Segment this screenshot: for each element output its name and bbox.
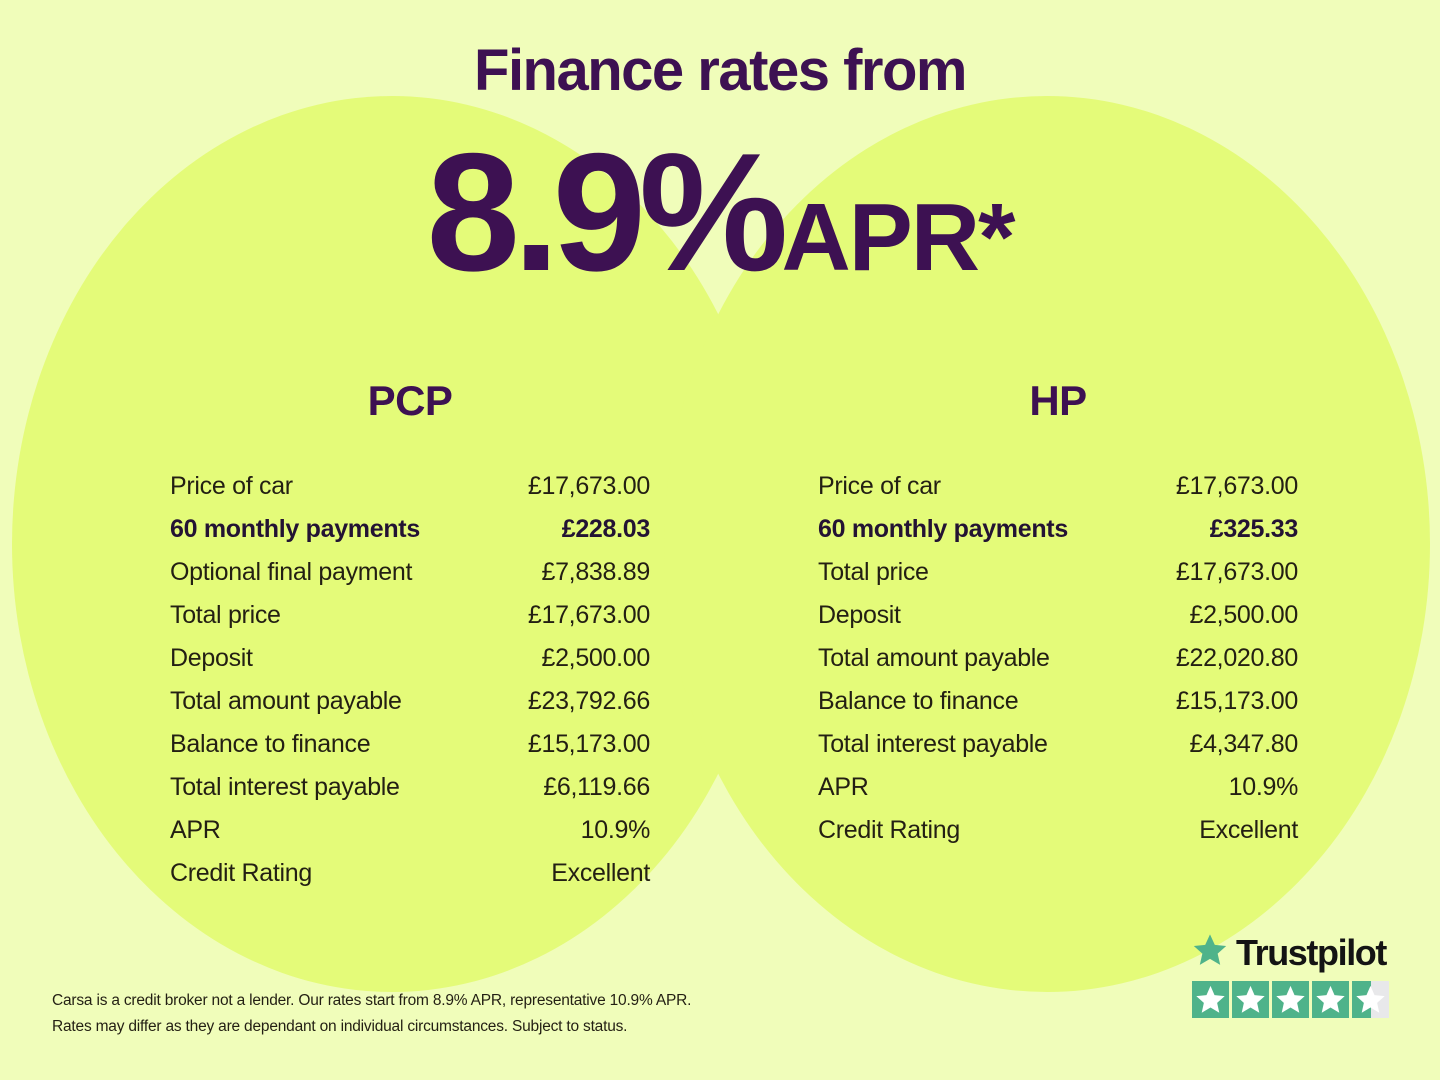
finance-row-label: Deposit [818,601,901,630]
trustpilot-star-icon [1192,932,1228,973]
finance-column-pcp: PCP Price of car£17,673.0060 monthly pay… [170,372,650,902]
trustpilot-star-rating [1192,981,1392,1018]
finance-row-value: 10.9% [581,816,650,845]
disclaimer-line-1: Carsa is a credit broker not a lender. O… [52,988,691,1014]
finance-row: Deposit£2,500.00 [818,601,1298,644]
finance-row-label: Total interest payable [170,773,400,802]
trustpilot-badge[interactable]: Trustpilot [1192,932,1392,1018]
finance-row-label: APR [170,816,221,845]
trustpilot-header: Trustpilot [1192,932,1392,973]
finance-row-label: Price of car [818,472,941,501]
finance-row-value: Excellent [1199,816,1298,845]
finance-row-label: Total amount payable [818,644,1050,673]
finance-row: 60 monthly payments£325.33 [818,515,1298,558]
trustpilot-star-icon [1312,981,1349,1018]
finance-row-value: £17,673.00 [1176,472,1298,501]
finance-row-value: Excellent [551,859,650,888]
finance-row-value: £15,173.00 [528,730,650,759]
finance-row-label: Total price [818,558,929,587]
trustpilot-star-icon [1232,981,1269,1018]
finance-row-label: Total amount payable [170,687,402,716]
finance-row: Deposit£2,500.00 [170,644,650,687]
finance-row-value: £17,673.00 [1176,558,1298,587]
finance-row-value: £23,792.66 [528,687,650,716]
trustpilot-star-icon [1352,981,1389,1018]
finance-row-label: Credit Rating [170,859,312,888]
page-title: Finance rates from [0,42,1440,100]
apr-rate-value: 8.9% [427,118,782,306]
finance-row-value: £6,119.66 [543,773,650,802]
finance-row: Price of car£17,673.00 [170,472,650,515]
finance-row: 60 monthly payments£228.03 [170,515,650,558]
apr-headline: 8.9%APR* [0,128,1440,296]
finance-row: Credit RatingExcellent [170,859,650,902]
finance-row-label: 60 monthly payments [170,515,420,544]
finance-row-value: £2,500.00 [541,644,650,673]
finance-row-label: Balance to finance [818,687,1018,716]
finance-row-label: Deposit [170,644,253,673]
finance-row: Total interest payable£6,119.66 [170,773,650,816]
finance-row-label: Total price [170,601,281,630]
finance-row-label: Balance to finance [170,730,370,759]
trustpilot-star-icon [1272,981,1309,1018]
finance-row-value: £2,500.00 [1189,601,1298,630]
finance-row: APR10.9% [170,816,650,859]
poster-content: Finance rates from 8.9%APR* PCP Price of… [0,0,1440,1080]
finance-row-value: £22,020.80 [1176,644,1298,673]
finance-rows-hp: Price of car£17,673.0060 monthly payment… [818,472,1298,859]
finance-row-label: Credit Rating [818,816,960,845]
finance-row-value: £15,173.00 [1176,687,1298,716]
finance-row-label: Price of car [170,472,293,501]
poster-canvas: Finance rates from 8.9%APR* PCP Price of… [0,0,1440,1080]
finance-column-hp: HP Price of car£17,673.0060 monthly paym… [818,372,1298,859]
finance-row-value: £325.33 [1210,515,1298,544]
finance-row: Optional final payment£7,838.89 [170,558,650,601]
finance-row: Balance to finance£15,173.00 [818,687,1298,730]
finance-row-label: 60 monthly payments [818,515,1068,544]
finance-row: Total price£17,673.00 [170,601,650,644]
disclaimer: Carsa is a credit broker not a lender. O… [52,988,691,1040]
finance-row: Price of car£17,673.00 [818,472,1298,515]
finance-row-value: £7,838.89 [541,558,650,587]
finance-row-label: Optional final payment [170,558,412,587]
apr-rate-suffix: APR* [781,184,1013,291]
finance-row: APR10.9% [818,773,1298,816]
finance-row: Balance to finance£15,173.00 [170,730,650,773]
finance-row-label: Total interest payable [818,730,1048,759]
disclaimer-line-2: Rates may differ as they are dependant o… [52,1014,691,1040]
finance-row-value: £4,347.80 [1189,730,1298,759]
finance-row-value: £228.03 [562,515,650,544]
finance-row: Credit RatingExcellent [818,816,1298,859]
finance-row-value: £17,673.00 [528,472,650,501]
column-title-pcp: PCP [170,372,650,430]
finance-rows-pcp: Price of car£17,673.0060 monthly payment… [170,472,650,902]
finance-row: Total interest payable£4,347.80 [818,730,1298,773]
trustpilot-star-icon [1192,981,1229,1018]
finance-row-label: APR [818,773,869,802]
finance-row: Total amount payable£23,792.66 [170,687,650,730]
finance-row: Total amount payable£22,020.80 [818,644,1298,687]
finance-row-value: 10.9% [1229,773,1298,802]
finance-row-value: £17,673.00 [528,601,650,630]
finance-row: Total price£17,673.00 [818,558,1298,601]
column-title-hp: HP [818,372,1298,430]
trustpilot-wordmark: Trustpilot [1236,935,1386,971]
